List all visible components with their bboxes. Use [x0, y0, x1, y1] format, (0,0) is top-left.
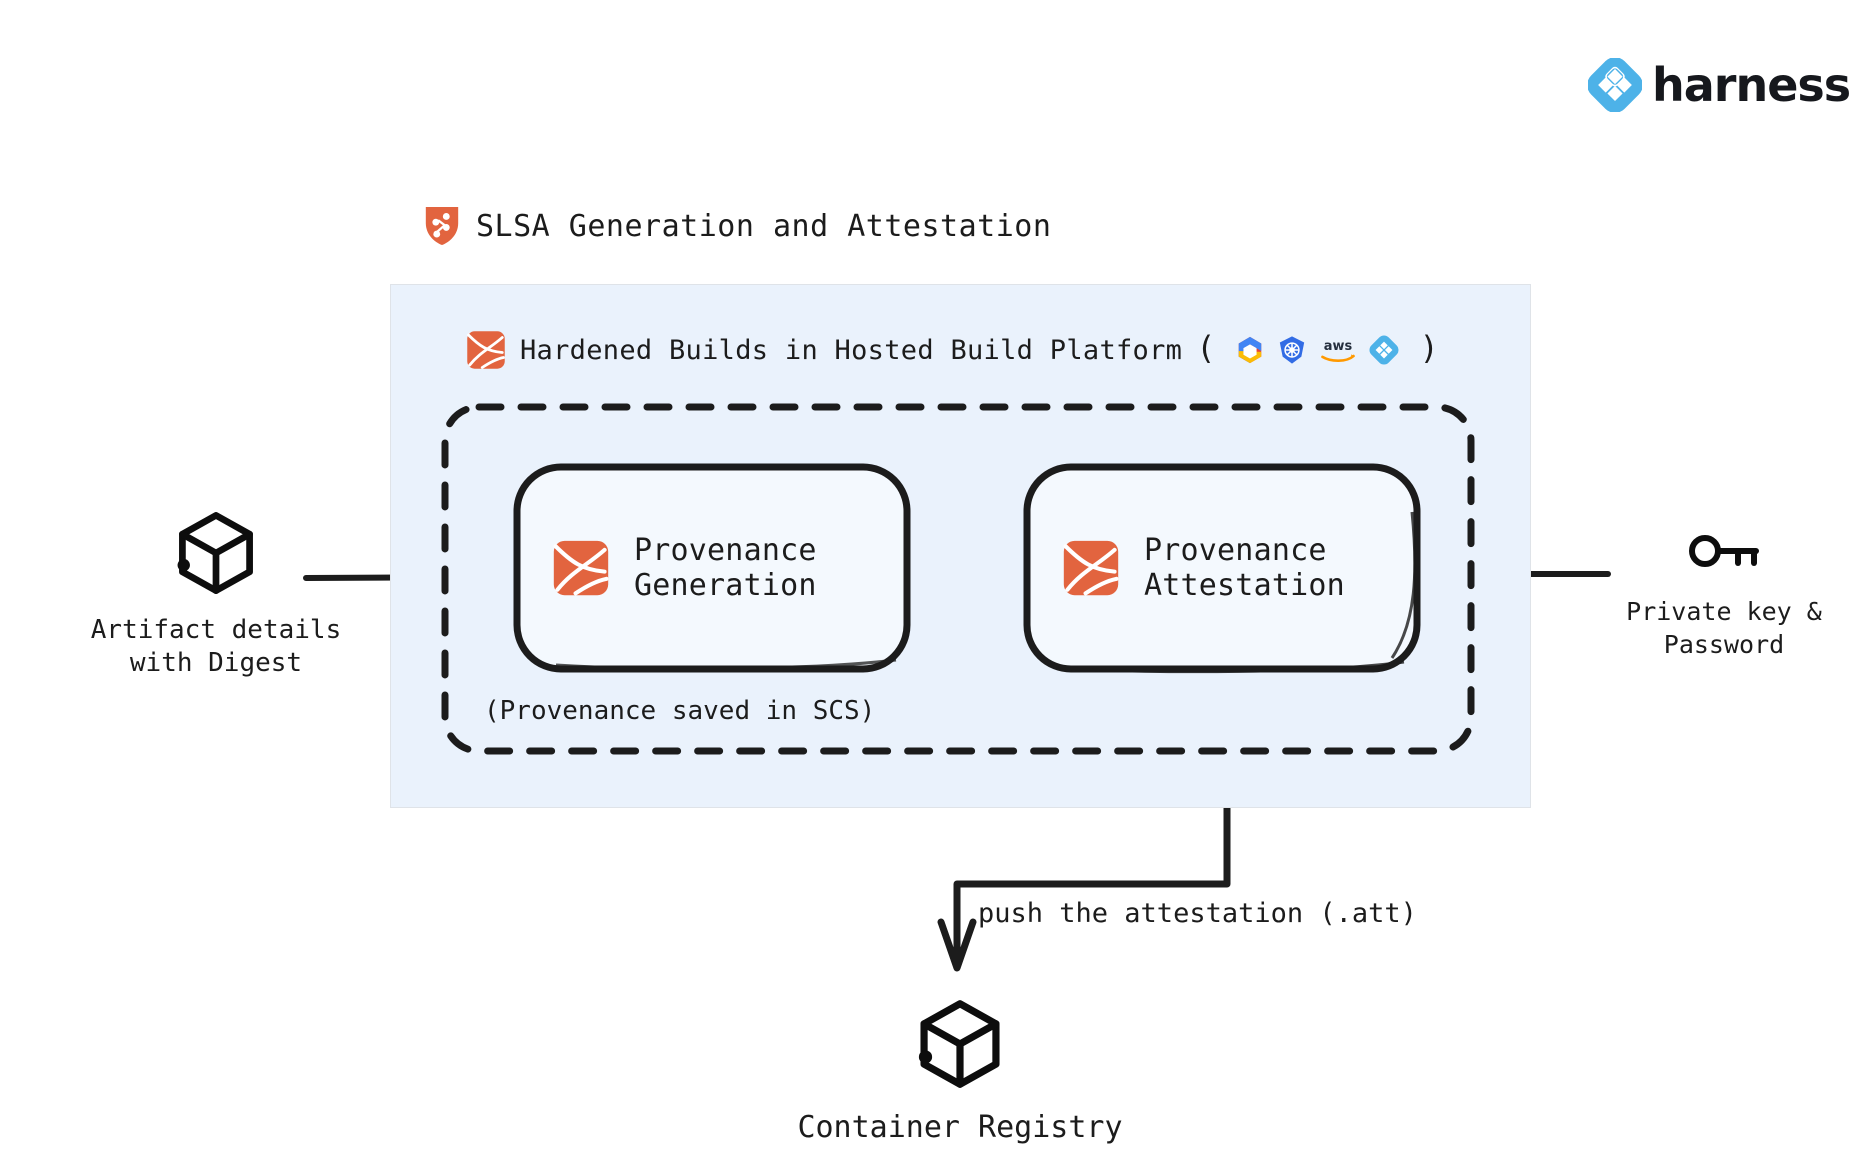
push-attestation-label: push the attestation (.att): [978, 898, 1417, 929]
provider-icon-list: aws: [1235, 335, 1399, 365]
provenance-attestation-box[interactable]: Provenance Attestation: [1022, 462, 1422, 674]
harness-icon: [1369, 335, 1399, 365]
private-key-node-label: Private key & Password: [1626, 596, 1822, 661]
artifact-node: Artifact details with Digest: [76, 510, 356, 681]
artifact-node-label: Artifact details with Digest: [91, 614, 341, 681]
svg-text:aws: aws: [1324, 339, 1353, 354]
provenance-generation-box[interactable]: Provenance Generation: [512, 462, 912, 674]
private-key-node: Private key & Password: [1604, 530, 1844, 661]
diagram-canvas: harness SLSA Generation and Attestation: [0, 0, 1862, 1172]
box-label: Provenance Attestation: [1144, 533, 1345, 604]
harness-logo-mark-icon: [552, 539, 610, 597]
brand-logo: harness: [1588, 58, 1850, 112]
panel-heading: Hardened Builds in Hosted Build Platform…: [466, 330, 1439, 370]
key-icon: [1686, 530, 1762, 574]
section-title-text: SLSA Generation and Attestation: [476, 209, 1051, 244]
scs-caption: (Provenance saved in SCS): [484, 696, 875, 726]
paren-open: (: [1196, 332, 1215, 364]
harness-diamond-icon: [1588, 58, 1642, 112]
google-cloud-icon: [1235, 335, 1265, 365]
kubernetes-icon: [1277, 335, 1307, 365]
section-title: SLSA Generation and Attestation: [424, 206, 1051, 246]
box-label: Provenance Generation: [634, 533, 817, 604]
harness-logo-mark-icon: [466, 330, 506, 370]
arrow-attestation-to-registry-head: [941, 922, 973, 968]
panel-heading-text: Hardened Builds in Hosted Build Platform: [520, 335, 1182, 366]
container-registry-node: Container Registry: [760, 998, 1160, 1145]
cube-icon: [173, 510, 259, 596]
paren-close: ): [1419, 332, 1438, 364]
container-registry-label: Container Registry: [797, 1110, 1122, 1145]
harness-logo-mark-icon: [1062, 539, 1120, 597]
brand-name: harness: [1652, 62, 1850, 108]
slsa-shield-icon: [424, 206, 460, 246]
aws-icon: aws: [1319, 337, 1357, 363]
cube-icon: [914, 998, 1006, 1090]
